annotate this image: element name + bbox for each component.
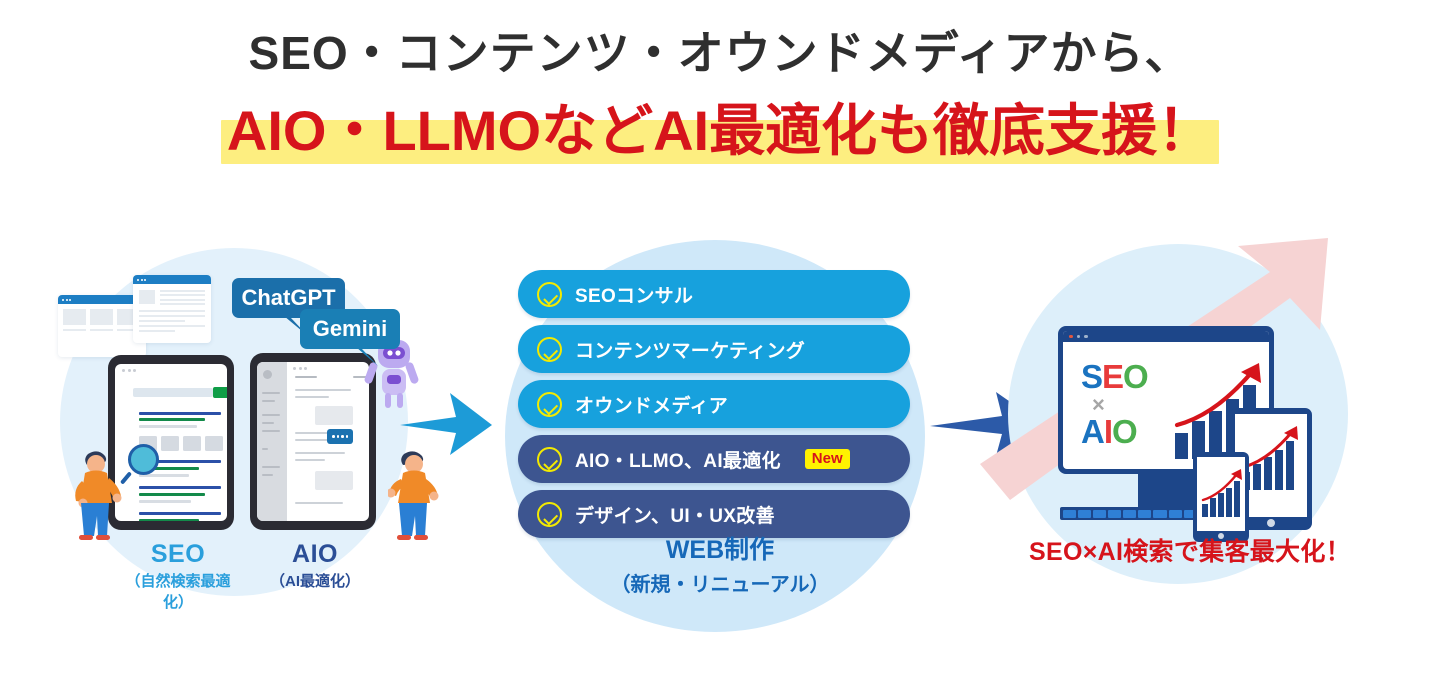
tablet-screen — [257, 362, 369, 521]
service-label: デザイン、UI・UX改善 — [575, 501, 775, 528]
caption-aio-subtitle: （AI最適化） — [255, 570, 375, 591]
caption-seo-subtitle: （自然検索最適化） — [118, 570, 238, 612]
magnifying-glass-icon — [128, 444, 159, 475]
phone-screen — [1197, 457, 1245, 531]
gemini-bubble-label: Gemini — [313, 316, 388, 342]
caption-web-subtitle: （新規・リニューアル） — [500, 568, 940, 597]
logo-letter-o2: O — [1112, 413, 1137, 450]
seo-aio-logo: SEO × AIO — [1081, 361, 1148, 448]
check-circle-icon — [537, 502, 562, 527]
gemini-bubble: Gemini — [300, 309, 400, 349]
check-circle-icon — [537, 282, 562, 307]
service-pill-seo-consulting[interactable]: SEOコンサル — [518, 270, 910, 318]
tablet-home-button[interactable] — [1267, 519, 1275, 527]
caption-aio-title: AIO — [255, 540, 375, 569]
service-pill-owned-media[interactable]: オウンドメディア — [518, 380, 910, 428]
logo-letter-s: S — [1081, 358, 1102, 395]
chatgpt-bubble-label: ChatGPT — [241, 285, 335, 311]
service-label: コンテンツマーケティング — [575, 336, 805, 363]
ai-response-bubble — [315, 471, 353, 490]
headline-block: SEO・コンテンツ・オウンドメディアから、 AIO・LLMOなどAI最適化も徹底… — [0, 24, 1440, 166]
search-button-mock — [213, 387, 227, 398]
caption-seo: SEO （自然検索最適化） — [118, 540, 238, 612]
logo-letter-o: O — [1123, 358, 1148, 395]
logo-letter-i: I — [1104, 413, 1112, 450]
search-bar-mock — [133, 388, 213, 397]
service-label: SEOコンサル — [575, 281, 693, 308]
service-pill-aio-llmo[interactable]: AIO・LLMO、AI最適化 New — [518, 435, 910, 483]
service-label: AIO・LLMO、AI最適化 — [575, 446, 781, 473]
person-with-magnifier — [68, 448, 122, 544]
service-label: オウンドメディア — [575, 391, 728, 418]
aio-chat-tablet — [250, 353, 376, 530]
right-panel: SEO × AIO — [980, 230, 1400, 630]
headline-line-2: AIO・LLMOなどAI最適化も徹底支援！ — [227, 96, 1213, 166]
seo-results-tablet — [108, 355, 234, 530]
browser-content — [133, 284, 211, 338]
logo-row-aio: AIO — [1081, 416, 1148, 448]
check-circle-icon — [537, 447, 562, 472]
window-titlebar — [1063, 331, 1269, 342]
logo-letter-e: E — [1102, 358, 1123, 395]
ai-response-bubble — [315, 406, 353, 425]
monitor-stand — [1138, 474, 1194, 507]
center-panel: SEOコンサル コンテンツマーケティング オウンドメディア AIO・LLMO、A… — [500, 230, 940, 630]
caption-web-production: WEB制作 （新規・リニューアル） — [500, 530, 940, 597]
caption-aio: AIO （AI最適化） — [255, 540, 375, 591]
caption-seo-ai-result: SEO×AI検索で集客最大化！ — [980, 532, 1400, 568]
growth-bar-chart — [1241, 424, 1301, 490]
check-circle-icon — [537, 337, 562, 362]
logo-separator-row: × — [1092, 394, 1148, 415]
chat-sidebar — [257, 362, 287, 521]
check-circle-icon — [537, 392, 562, 417]
flow-arrow-cyan — [400, 385, 492, 461]
headline-line-1: SEO・コンテンツ・オウンドメディアから、 — [0, 24, 1440, 84]
service-list: SEOコンサル コンテンツマーケティング オウンドメディア AIO・LLMO、A… — [518, 270, 910, 545]
logo-letter-a: A — [1081, 413, 1104, 450]
caption-seo-ai-text: SEO×AI検索で集客最大化！ — [1029, 538, 1351, 566]
caption-web-title: WEB制作 — [500, 530, 940, 566]
tablet-screen — [115, 364, 227, 521]
typing-bubble — [327, 429, 353, 444]
caption-seo-title: SEO — [118, 540, 238, 569]
browser-titlebar — [133, 275, 211, 284]
screen-dots — [115, 364, 227, 372]
diagram-stage: ChatGPT Gemini — [0, 230, 1440, 650]
service-pill-content-marketing[interactable]: コンテンツマーケティング — [518, 325, 910, 373]
person-pointing — [388, 448, 442, 544]
avatar — [263, 370, 272, 379]
growth-bar-chart — [1201, 467, 1243, 517]
new-badge: New — [805, 449, 850, 469]
browser-card-front — [133, 275, 211, 343]
logo-row-seo: SEO — [1081, 361, 1148, 393]
smartphone-device — [1193, 452, 1249, 542]
headline-line-2-wrapper: AIO・LLMOなどAI最適化も徹底支援！ — [227, 96, 1213, 166]
